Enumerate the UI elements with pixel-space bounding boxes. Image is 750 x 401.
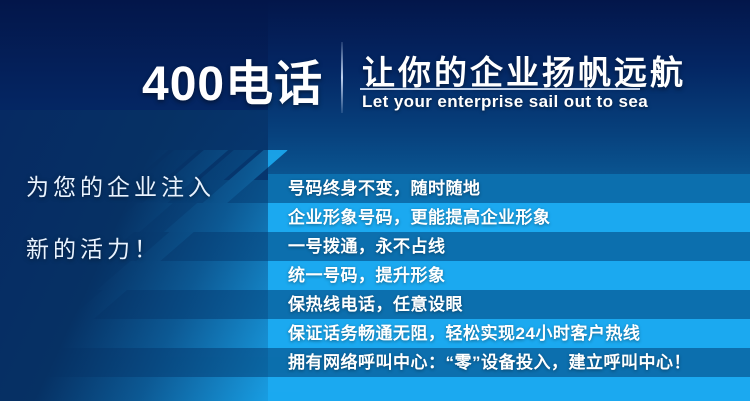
feature-item: 保证话务畅通无阻，轻松实现24小时客户热线: [288, 319, 640, 348]
tagline-chinese: 让你的企业扬帆远航: [362, 46, 686, 94]
feature-item: 号码终身不变，随时随地: [288, 174, 481, 203]
promo-banner: 400电话 让你的企业扬帆远航 Let your enterprise sail…: [0, 0, 750, 401]
feature-list: 号码终身不变，随时随地企业形象号码，更能提高企业形象一号拨通，永不占线统一号码，…: [0, 174, 750, 401]
header-divider: [341, 42, 343, 113]
brand-title: 400电话: [142, 44, 323, 114]
tagline-english: Let your enterprise sail out to sea: [362, 92, 648, 112]
feature-item: 拥有网络呼叫中心：“零”设备投入，建立呼叫中心！: [288, 348, 691, 377]
feature-item: 企业形象号码，更能提高企业形象: [288, 203, 551, 232]
feature-item: 保热线电话，任意设眼: [288, 290, 463, 319]
feature-item: 一号拨通，永不占线: [288, 232, 446, 261]
tagline-rule: [360, 88, 640, 90]
feature-item: 统一号码，提升形象: [288, 261, 446, 290]
